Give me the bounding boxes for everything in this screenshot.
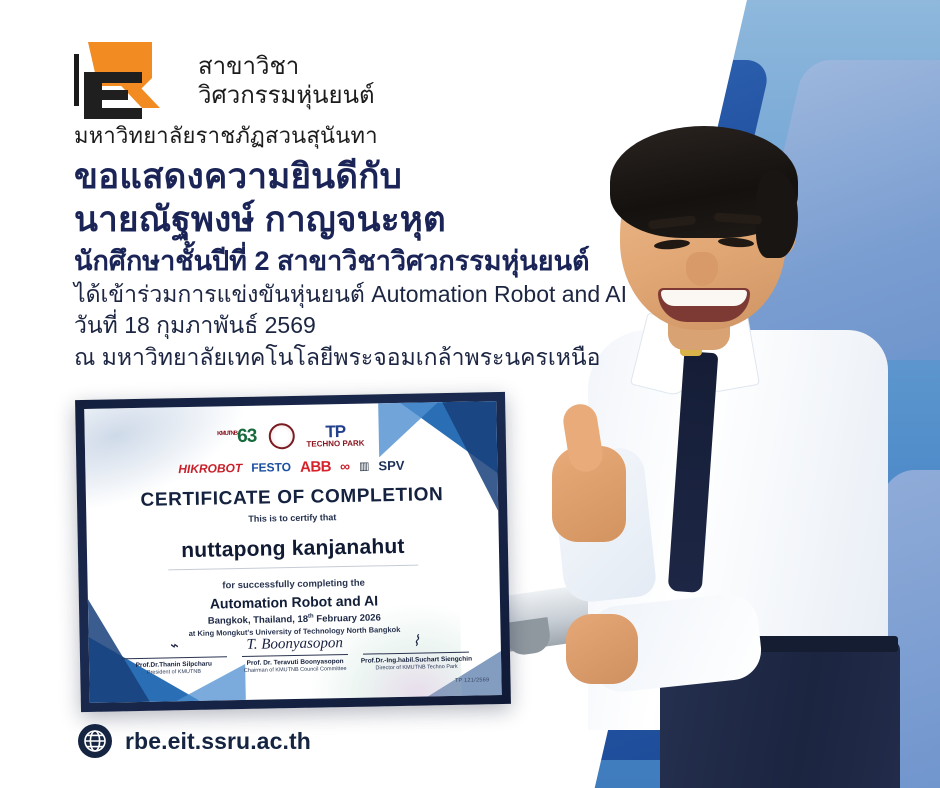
techno-park-logo: TP TECHNO PARK	[306, 422, 365, 448]
congratulations-line: ขอแสดงความยินดีกับ	[74, 155, 634, 198]
certificate-border: KMUTNB63 TP TECHNO PARK HIKROBOT FESTO A…	[75, 392, 511, 712]
certificate-subtitle: This is to certify that	[116, 510, 468, 527]
certificate-content: KMUTNB63 TP TECHNO PARK HIKROBOT FESTO A…	[84, 401, 500, 640]
student-name: นายณัฐพงษ์ กาญจนะหุต	[74, 198, 634, 241]
rbe-logo-icon	[74, 38, 168, 122]
signature-block-2: T. Boonyasopon Prof. Dr. Teravuti Boonya…	[236, 632, 355, 674]
certificate-logo-row-primary: KMUTNB63 TP TECHNO PARK	[115, 418, 468, 455]
techno-park-label: TECHNO PARK	[306, 438, 364, 448]
smiling-mouth	[658, 288, 750, 322]
spv-logo: SPV	[378, 457, 404, 472]
student-program: นักศึกษาชั้นปีที่ 2 สาขาวิชาวิศวกรรมหุ่น…	[74, 244, 634, 279]
department-text: สาขาวิชา วิศวกรรมหุ่นยนต์	[182, 38, 375, 111]
controller-holding-hand	[566, 614, 638, 684]
logo-divider-bar	[74, 54, 79, 106]
student-figure	[470, 0, 940, 788]
certificate-body: KMUTNB63 TP TECHNO PARK HIKROBOT FESTO A…	[84, 401, 502, 703]
signature-block-3: ⌇ Prof.Dr.-Ing.habil.Suchart Siengchin D…	[357, 630, 476, 672]
website-url[interactable]: rbe.eit.ssru.ac.th	[125, 728, 311, 755]
certificate-image: KMUTNB63 TP TECHNO PARK HIKROBOT FESTO A…	[75, 392, 511, 712]
teeth	[661, 290, 747, 306]
globe-icon	[78, 724, 112, 758]
congratulations-poster: สาขาวิชา วิศวกรรมหุ่นยนต์ มหาวิทยาลัยราช…	[0, 0, 940, 788]
festo-logo: FESTO	[251, 460, 291, 475]
kmutnb-seal-icon	[268, 423, 294, 449]
infinity-logo: ∞	[340, 458, 350, 474]
detail-line-3: ณ มหาวิทยาลัยเทคโนโลยีพระจอมเกล้าพระนครเ…	[74, 342, 634, 374]
signature-block-1: ⌁ Prof.Dr.Thanin Silpcharu President of …	[114, 634, 233, 676]
kmutnb-63-number: 63	[237, 426, 257, 447]
kmutnb-63-logo: KMUTNB63	[217, 426, 257, 449]
department-line-2: วิศวกรรมหุ่นยนต์	[182, 81, 375, 110]
signature-mark-2: T. Boonyasopon	[236, 632, 354, 656]
certificate-place-pre: Bangkok, Thailand, 18	[208, 614, 309, 627]
certificate-signature-row: ⌁ Prof.Dr.Thanin Silpcharu President of …	[89, 629, 502, 677]
certificate-code: TP 121/2569	[455, 677, 490, 684]
rbe-logo-block: สาขาวิชา วิศวกรรมหุ่นยนต์	[74, 38, 375, 122]
certificate-logo-row-sponsors: HIKROBOT FESTO ABB ∞ ▥ SPV	[115, 455, 467, 480]
hikrobot-logo: HIKROBOT	[178, 461, 242, 476]
university-name: มหาวิทยาลัยราชภัฏสวนสุนันทา	[74, 118, 378, 153]
certificate-recipient-name: nuttapong kanjanahut	[117, 534, 469, 565]
kmutnb-63-sup: KMUTNB	[217, 431, 237, 437]
footer-website[interactable]: rbe.eit.ssru.ac.th	[78, 724, 311, 758]
headline-block: ขอแสดงความยินดีกับ นายณัฐพงษ์ กาญจนะหุต …	[74, 155, 634, 373]
signature-mark-1: ⌁	[114, 634, 232, 658]
certificate-name-rule	[168, 565, 418, 571]
signature-mark-3: ⌇	[357, 630, 475, 654]
student-photo-panel	[470, 0, 940, 788]
abb-logo: ABB	[300, 458, 331, 476]
certificate-title: CERTIFICATE OF COMPLETION	[116, 484, 468, 513]
detail-line-1: ได้เข้าร่วมการแข่งขันหุ่นยนต์ Automation…	[74, 279, 634, 311]
nose	[686, 252, 718, 286]
department-line-1: สาขาวิชา	[182, 52, 375, 81]
certificate-course-name: Automation Robot and AI	[118, 591, 470, 614]
detail-line-2: วันที่ 18 กุมภาพันธ์ 2569	[74, 310, 634, 342]
certificate-place-post: February 2026	[314, 612, 381, 624]
partner-logo: ▥	[359, 459, 370, 472]
